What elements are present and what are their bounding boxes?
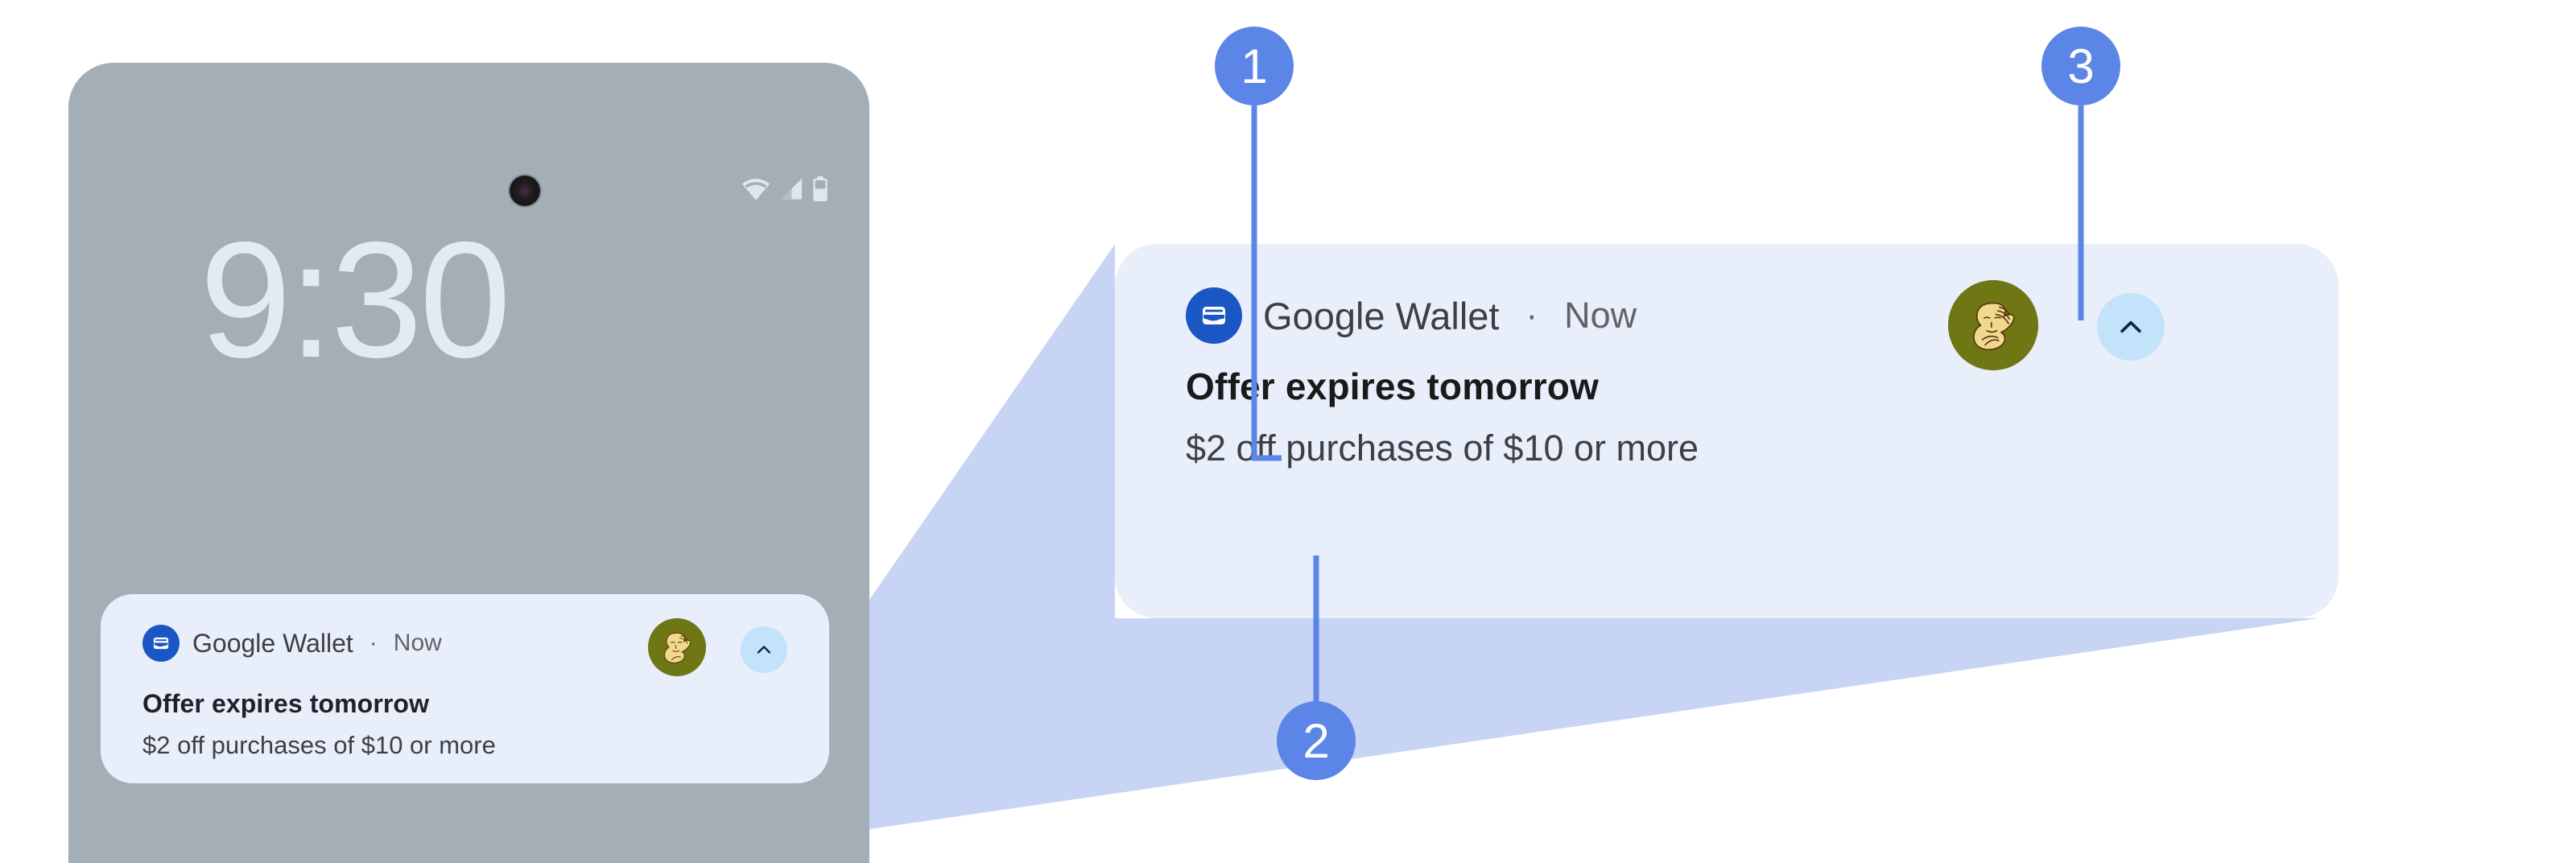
notification-title: Offer expires tomorrow xyxy=(142,689,429,719)
expand-notification-button[interactable] xyxy=(2097,293,2165,361)
battery-icon xyxy=(811,176,829,206)
notification-card-small[interactable]: Google Wallet · Now Offer expires tomorr… xyxy=(101,594,829,783)
google-wallet-icon xyxy=(142,625,180,662)
notification-card-enlarged[interactable]: Google Wallet · Now Offer expires tomorr… xyxy=(1115,244,2339,618)
notification-header-enlarged: Google Wallet · Now xyxy=(1186,287,1637,344)
lock-screen-clock: 9:30 xyxy=(200,217,508,382)
notification-title: Offer expires tomorrow xyxy=(1186,365,1599,408)
notification-app-name: Google Wallet xyxy=(1263,294,1499,338)
front-camera-punch-hole-icon xyxy=(510,175,540,206)
notification-separator: · xyxy=(366,630,381,657)
notification-body: $2 off purchases of $10 or more xyxy=(1186,427,1699,469)
callout-badge-1[interactable]: 1 xyxy=(1215,27,1294,105)
notification-timestamp: Now xyxy=(1564,295,1637,337)
screenshot-stage: 9:30 Google Wallet · Now Offer expires t… xyxy=(0,0,2576,863)
google-wallet-icon xyxy=(1186,287,1242,344)
notification-body: $2 off purchases of $10 or more xyxy=(142,731,496,760)
merchant-avatar xyxy=(648,618,706,676)
notification-header: Google Wallet · Now xyxy=(142,625,442,662)
wifi-icon xyxy=(741,177,770,205)
callout-badge-2[interactable]: 2 xyxy=(1277,701,1356,780)
expand-notification-button[interactable] xyxy=(741,626,787,673)
merchant-avatar xyxy=(1948,280,2038,370)
phone-status-bar xyxy=(741,175,829,207)
chevron-up-icon xyxy=(753,639,774,660)
phone-mockup: 9:30 Google Wallet · Now Offer expires t… xyxy=(68,63,869,863)
chevron-up-icon xyxy=(2115,311,2147,343)
notification-separator: · xyxy=(1520,295,1543,336)
cellular-signal-icon xyxy=(778,177,804,205)
callout-badge-3[interactable]: 3 xyxy=(2041,27,2120,105)
notification-timestamp: Now xyxy=(394,630,442,657)
notification-app-name: Google Wallet xyxy=(192,629,353,659)
